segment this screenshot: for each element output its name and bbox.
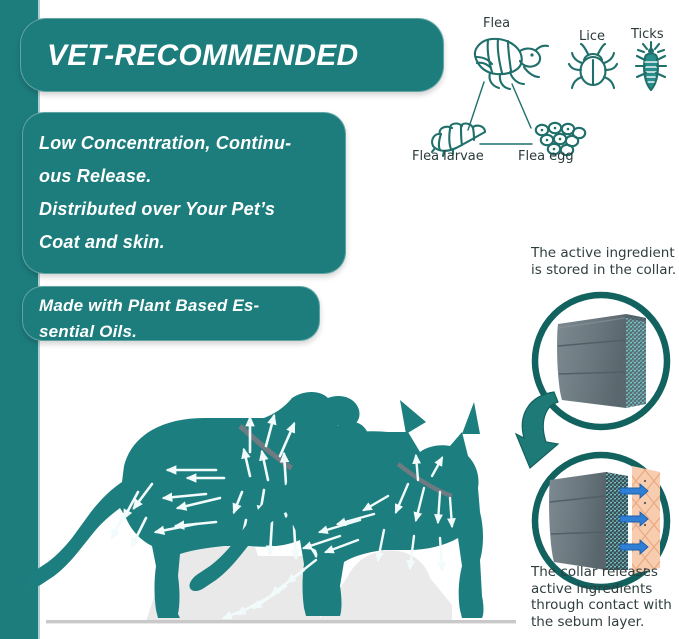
header-banner: VET-RECOMMENDED <box>20 18 444 92</box>
pest-label-flea: Flea <box>483 16 510 31</box>
pest-connector-lines <box>468 82 532 144</box>
callout-benefit-oils: Made with Plant Based Es- sential Oils. <box>22 286 320 341</box>
collar-block <box>549 472 628 570</box>
mechanism-step1-caption: The active ingredient is stored in the c… <box>531 245 679 278</box>
lice-icon <box>569 44 617 88</box>
ticks-icon <box>636 42 666 90</box>
flea-icon <box>475 39 548 89</box>
callout-line: Made with Plant Based Es- <box>39 293 319 319</box>
pest-diagram: Flea Lice Ticks Flea larvae Flea egg <box>404 4 679 174</box>
callout-benefit-release-text: Low Concentration, Continu- ous Release.… <box>39 127 335 259</box>
page-title: VET-RECOMMENDED <box>47 35 427 77</box>
animal-diffusion-diagram <box>28 380 538 630</box>
callout-line: Distributed over Your Pet’s <box>39 193 335 226</box>
ground-line <box>46 620 516 623</box>
callout-line: Low Concentration, Continu- <box>39 127 335 160</box>
infographic-canvas: VET-RECOMMENDED Low Concentration, Conti… <box>0 0 679 639</box>
active-ingredient-layer <box>626 314 646 408</box>
callout-line: Coat and skin. <box>39 226 335 259</box>
callout-benefit-release: Low Concentration, Continu- ous Release.… <box>22 112 346 274</box>
callout-line: sential Oils. <box>39 319 319 345</box>
animal-diffusion-svg <box>28 380 538 630</box>
callout-line: ous Release. <box>39 160 335 193</box>
pest-label-flea-larvae: Flea larvae <box>412 149 484 164</box>
callout-benefit-oils-text: Made with Plant Based Es- sential Oils. <box>39 293 319 345</box>
pest-label-flea-egg: Flea egg <box>518 149 574 164</box>
pest-label-lice: Lice <box>579 29 605 44</box>
pest-label-ticks: Ticks <box>631 27 664 42</box>
mechanism-step2-caption: The collar releases active ingredients t… <box>531 564 679 630</box>
